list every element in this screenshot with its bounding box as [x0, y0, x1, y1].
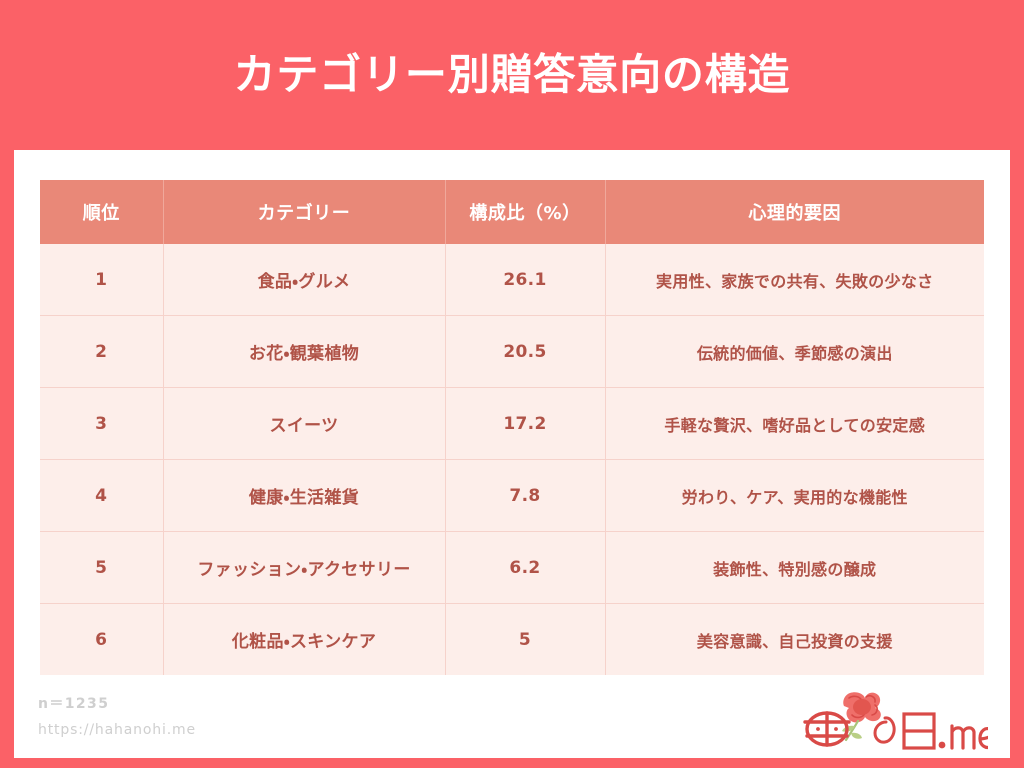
table-row: 3 スイーツ 17.2 手軽な贅沢、嗜好品としての安定感: [40, 388, 984, 460]
footnote: n＝1235 https://hahanohi.me: [38, 692, 196, 744]
table-row: 1 食品・グルメ 26.1 実用性、家族での共有、失敗の少なさ: [40, 244, 984, 316]
column-header-category: カテゴリー: [163, 180, 445, 244]
cell-factor: 装飾性、特別感の醸成: [605, 532, 984, 604]
cell-factor: 美容意識、自己投資の支援: [605, 604, 984, 676]
cell-category: スイーツ: [163, 388, 445, 460]
cell-share: 20.5: [445, 316, 605, 388]
table-header: 順位 カテゴリー 構成比（%） 心理的要因: [40, 180, 984, 244]
cell-share: 7.8: [445, 460, 605, 532]
content-card: 順位 カテゴリー 構成比（%） 心理的要因 1 食品・グルメ 26.1 実用性、…: [14, 150, 1010, 758]
site-url-note: https://hahanohi.me: [38, 718, 196, 744]
cell-category: ファッション・アクセサリー: [163, 532, 445, 604]
cell-factor: 労わり、ケア、実用的な機能性: [605, 460, 984, 532]
cell-category: 化粧品・スキンケア: [163, 604, 445, 676]
carnation-icon: [843, 692, 881, 722]
cell-share: 26.1: [445, 244, 605, 316]
cell-factor: 実用性、家族での共有、失敗の少なさ: [605, 244, 984, 316]
haha-kanji: [805, 713, 849, 745]
page-title: カテゴリー別贈答意向の構造: [234, 52, 791, 98]
cell-rank: 1: [40, 244, 163, 316]
cell-category: お花・観葉植物: [163, 316, 445, 388]
no-hiragana: [875, 718, 894, 742]
cell-category: 食品・グルメ: [163, 244, 445, 316]
cell-rank: 4: [40, 460, 163, 532]
cell-factor: 手軽な贅沢、嗜好品としての安定感: [605, 388, 984, 460]
table-body: 1 食品・グルメ 26.1 実用性、家族での共有、失敗の少なさ 2 お花・観葉植…: [40, 244, 984, 675]
slide-root: カテゴリー別贈答意向の構造 順位 カテゴリー 構成比（%） 心理的要因: [0, 0, 1024, 768]
table-row: 6 化粧品・スキンケア 5 美容意識、自己投資の支援: [40, 604, 984, 676]
column-header-share: 構成比（%）: [445, 180, 605, 244]
sample-size-note: n＝1235: [38, 692, 196, 718]
table-container: 順位 カテゴリー 構成比（%） 心理的要因 1 食品・グルメ 26.1 実用性、…: [40, 180, 984, 675]
hi-kanji: [904, 714, 934, 748]
cell-rank: 5: [40, 532, 163, 604]
site-logo[interactable]: [800, 688, 988, 750]
table-row: 4 健康・生活雑貨 7.8 労わり、ケア、実用的な機能性: [40, 460, 984, 532]
table-header-row: 順位 カテゴリー 構成比（%） 心理的要因: [40, 180, 984, 244]
table-row: 5 ファッション・アクセサリー 6.2 装飾性、特別感の醸成: [40, 532, 984, 604]
title-bar: カテゴリー別贈答意向の構造: [0, 0, 1024, 150]
cell-category: 健康・生活雑貨: [163, 460, 445, 532]
cell-rank: 2: [40, 316, 163, 388]
cell-rank: 3: [40, 388, 163, 460]
cell-factor: 伝統的価値、季節感の演出: [605, 316, 984, 388]
column-header-factor: 心理的要因: [605, 180, 984, 244]
table-row: 2 お花・観葉植物 20.5 伝統的価値、季節感の演出: [40, 316, 984, 388]
cell-rank: 6: [40, 604, 163, 676]
dot-me-text: [939, 726, 988, 748]
cell-share: 6.2: [445, 532, 605, 604]
column-header-rank: 順位: [40, 180, 163, 244]
cell-share: 5: [445, 604, 605, 676]
ranking-table: 順位 カテゴリー 構成比（%） 心理的要因 1 食品・グルメ 26.1 実用性、…: [40, 180, 984, 675]
cell-share: 17.2: [445, 388, 605, 460]
